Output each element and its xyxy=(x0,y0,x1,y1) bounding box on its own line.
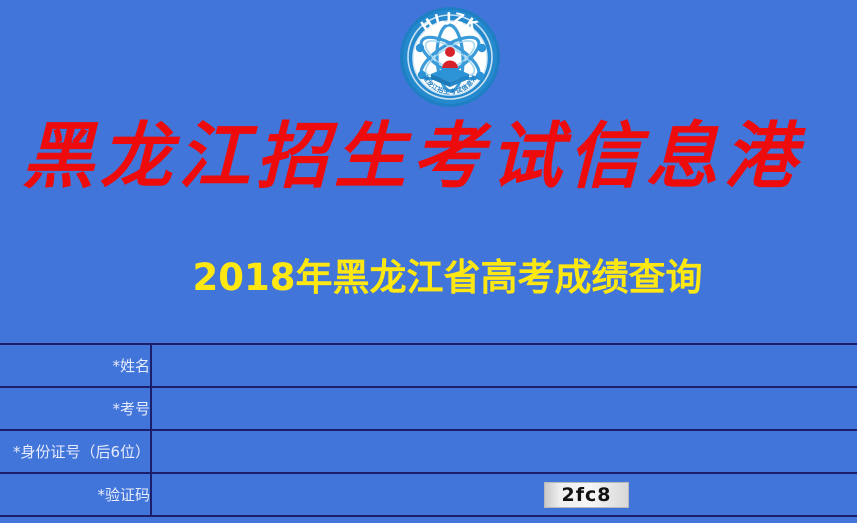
label-id-number-text: *身份证号（后6位） xyxy=(0,441,150,462)
field-cell-name[interactable] xyxy=(151,344,857,387)
field-cell-exam-number[interactable] xyxy=(151,387,857,430)
page-subtitle: 2018年黑龙江省高考成绩查询 xyxy=(0,255,857,301)
label-id-number: *身份证号（后6位） xyxy=(0,430,151,473)
label-name-text: *姓名 xyxy=(0,355,150,376)
field-cell-captcha[interactable]: 2fc8 xyxy=(151,473,857,516)
id-number-input[interactable] xyxy=(158,441,162,443)
table-row: *验证码 2fc8 xyxy=(0,473,857,516)
name-input[interactable] xyxy=(158,355,162,357)
table-row: *考号 xyxy=(0,387,857,430)
exam-number-input[interactable] xyxy=(158,398,162,400)
label-captcha: *验证码 xyxy=(0,473,151,516)
label-exam-number: *考号 xyxy=(0,387,151,430)
field-cell-id-number[interactable] xyxy=(151,430,857,473)
page-title: 黑龙江招生考试信息港 xyxy=(22,108,857,204)
score-query-form: *姓名 *考号 *身份证号（后6位） *验证码 xyxy=(0,343,857,517)
label-exam-number-text: *考号 xyxy=(0,398,150,419)
label-name: *姓名 xyxy=(0,344,151,387)
hljzk-logo-svg: HLJZK 黑龙江招生考试信息港 xyxy=(398,2,502,108)
table-row: *身份证号（后6位） xyxy=(0,430,857,473)
captcha-input[interactable] xyxy=(158,484,162,486)
captcha-image[interactable]: 2fc8 xyxy=(544,482,629,508)
label-captcha-text: *验证码 xyxy=(0,484,150,505)
table-row: *姓名 xyxy=(0,344,857,387)
hljzk-logo: HLJZK 黑龙江招生考试信息港 xyxy=(398,2,502,108)
